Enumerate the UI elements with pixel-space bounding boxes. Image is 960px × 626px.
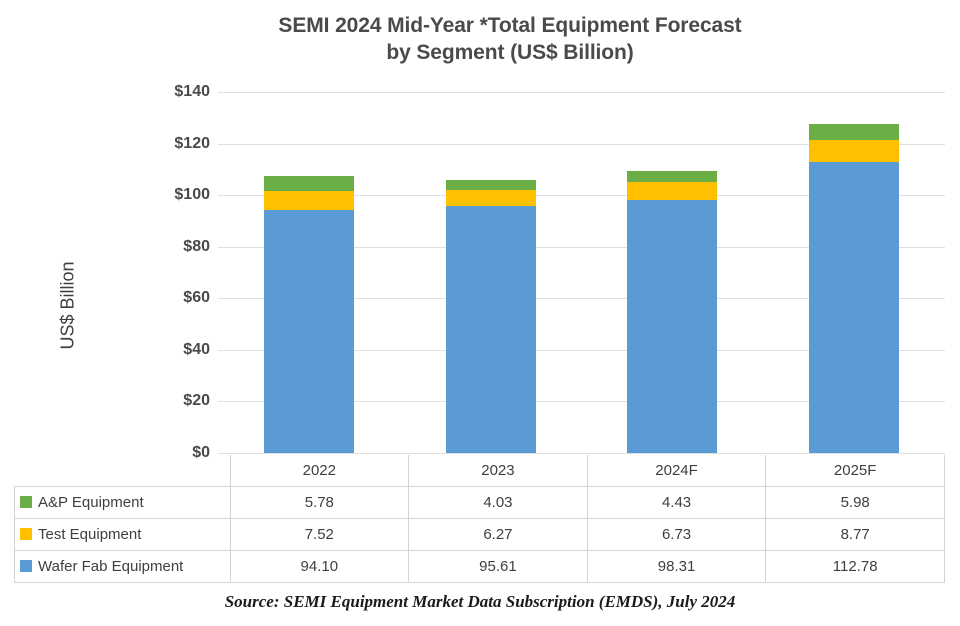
source-note: Source: SEMI Equipment Market Data Subsc… — [0, 592, 960, 612]
bar-segment[interactable] — [627, 171, 717, 182]
table-cell: 4.43 — [587, 487, 766, 519]
bar-2024F[interactable] — [627, 171, 717, 453]
data-table: 202220232024F2025FA&P Equipment5.784.034… — [14, 455, 945, 583]
table-cell: 112.78 — [766, 551, 945, 583]
bar-segment[interactable] — [446, 190, 536, 206]
legend-item-3: Wafer Fab Equipment — [15, 551, 231, 583]
table-cell: 5.98 — [766, 487, 945, 519]
legend-label: Wafer Fab Equipment — [38, 558, 183, 575]
bar-segment[interactable] — [627, 200, 717, 453]
bar-segment[interactable] — [446, 180, 536, 190]
y-axis-title-label: US$ Billion — [58, 206, 79, 406]
chart-container: SEMI 2024 Mid-Year *Total Equipment Fore… — [0, 0, 960, 626]
table-cell: 95.61 — [409, 551, 588, 583]
chart-title: SEMI 2024 Mid-Year *Total Equipment Fore… — [160, 12, 860, 66]
table-header-row: 202220232024F2025F — [15, 455, 945, 487]
legend-swatch-icon — [20, 528, 32, 540]
bar-segment[interactable] — [264, 176, 354, 191]
table-column-header: 2023 — [409, 455, 588, 487]
table-cell: 4.03 — [409, 487, 588, 519]
y-axis-tick-labels: $140$120$100$80$60$40$20$0 — [140, 92, 210, 453]
gridline — [218, 92, 945, 93]
table-cell: 6.27 — [409, 519, 588, 551]
table-row: A&P Equipment5.784.034.435.98 — [15, 487, 945, 519]
bar-segment[interactable] — [809, 162, 899, 453]
bar-segment[interactable] — [264, 210, 354, 453]
table-column-header: 2025F — [766, 455, 945, 487]
table-header-corner — [15, 455, 231, 487]
table-row: Test Equipment7.526.276.738.77 — [15, 519, 945, 551]
table-cell: 94.10 — [230, 551, 409, 583]
gridline — [218, 453, 945, 454]
legend-label: A&P Equipment — [38, 494, 144, 511]
y-axis-tick-label: $80 — [144, 238, 210, 256]
table-cell: 6.73 — [587, 519, 766, 551]
bar-segment[interactable] — [446, 206, 536, 453]
legend-item-2: Test Equipment — [15, 519, 231, 551]
plot-area — [218, 92, 945, 453]
y-axis-title: US$ Billion — [13, 205, 123, 405]
y-axis-tick-label: $60 — [144, 289, 210, 307]
y-axis-tick-label: $40 — [144, 341, 210, 359]
bar-2025F[interactable] — [809, 124, 899, 453]
table-cell: 5.78 — [230, 487, 409, 519]
table-cell: 98.31 — [587, 551, 766, 583]
bar-segment[interactable] — [809, 124, 899, 139]
bar-segment[interactable] — [264, 191, 354, 210]
y-axis-tick-label: $20 — [144, 392, 210, 410]
bar-segment[interactable] — [627, 182, 717, 199]
table-row: Wafer Fab Equipment94.1095.6198.31112.78 — [15, 551, 945, 583]
legend-label: Test Equipment — [38, 526, 141, 543]
bar-2023[interactable] — [446, 180, 536, 453]
legend-swatch-icon — [20, 496, 32, 508]
y-axis-tick-label: $140 — [144, 83, 210, 101]
legend-item-1: A&P Equipment — [15, 487, 231, 519]
chart-title-line-1: SEMI 2024 Mid-Year *Total Equipment Fore… — [278, 14, 741, 37]
table-cell: 8.77 — [766, 519, 945, 551]
y-axis-tick-label: $100 — [144, 186, 210, 204]
y-axis-tick-label: $120 — [144, 135, 210, 153]
legend-swatch-icon — [20, 560, 32, 572]
table-cell: 7.52 — [230, 519, 409, 551]
chart-title-line-2: by Segment (US$ Billion) — [160, 39, 860, 66]
bar-segment[interactable] — [809, 140, 899, 163]
bar-2022[interactable] — [264, 176, 354, 453]
table-column-header: 2024F — [587, 455, 766, 487]
table-column-header: 2022 — [230, 455, 409, 487]
